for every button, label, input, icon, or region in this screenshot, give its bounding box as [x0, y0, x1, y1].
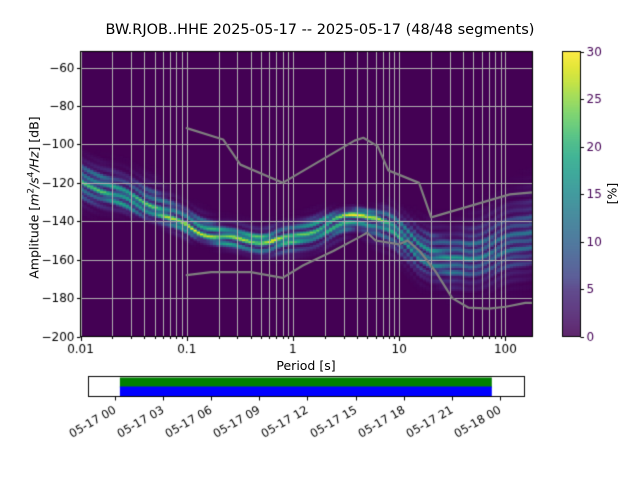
- page-title: BW.RJOB..HHE 2025-05-17 -- 2025-05-17 (4…: [0, 22, 640, 38]
- ppsd-plot-canvas[interactable]: [0, 0, 640, 480]
- ppsd-figure: BW.RJOB..HHE 2025-05-17 -- 2025-05-17 (4…: [0, 0, 640, 480]
- x-axis-label: Period [s]: [80, 358, 532, 373]
- colorbar-label: [%]: [605, 134, 620, 254]
- y-axis-label: Amplitude [m2/s4/Hz] [dB]: [26, 68, 41, 328]
